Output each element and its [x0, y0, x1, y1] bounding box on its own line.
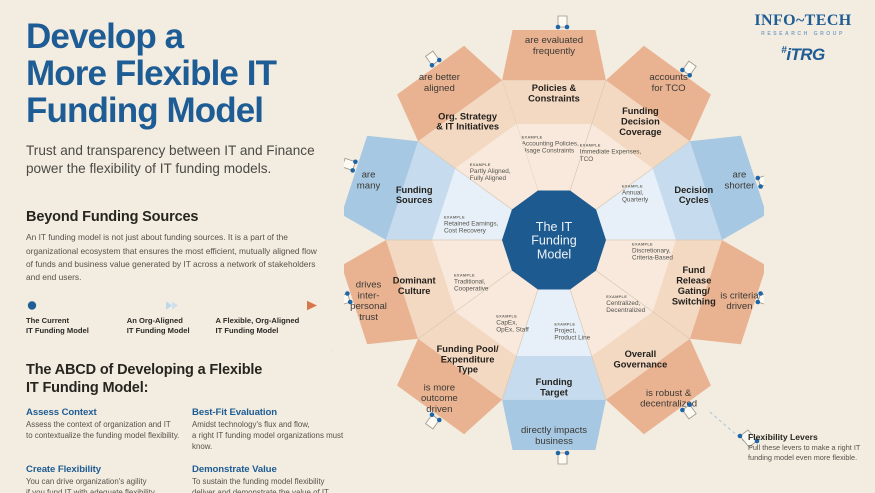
spectrum-label-1-line-1: An Org-Aligned	[127, 316, 216, 327]
example-text-line: Product Line	[554, 335, 590, 342]
flexibility-lever-handle[interactable]	[556, 451, 570, 464]
petal-title: DominantCulture	[393, 276, 436, 296]
abcd-item-body-line-2: if you fund IT with adequate flexibility…	[26, 487, 192, 493]
petal-title: FundingDecisionCoverage	[619, 106, 661, 137]
example-label: EXAMPLE	[632, 241, 653, 246]
petal-lever-text: is moreoutcomedriven	[421, 382, 458, 415]
page-title-line-3: Funding Model	[26, 92, 356, 129]
example-text-line: Immediate Expenses,	[580, 149, 642, 156]
example-label: EXAMPLE	[496, 313, 517, 318]
petal-title-line: Switching	[672, 296, 716, 306]
beyond-body: An IT funding model is not just about fu…	[26, 231, 326, 284]
petal-lever-text-line: is criteria	[720, 290, 759, 301]
center-label: The ITFundingModel	[531, 220, 577, 262]
petal-title-line: Org. Strategy	[438, 111, 498, 121]
petal-lever-text-line: are	[733, 170, 747, 181]
petal-title-line: Constraints	[528, 94, 580, 104]
page-subtitle: Trust and transparency between IT and Fi…	[26, 142, 356, 178]
center-label-line: The IT	[536, 220, 573, 234]
example-label: EXAMPLE	[454, 272, 475, 277]
example-text-line: Discretionary,	[632, 247, 671, 254]
info-tech-logo: INFO~TECH RESEARCH GROUP #iTRG	[747, 12, 859, 65]
petal-lever-text-line: drives	[356, 279, 382, 290]
petal-lever-text-line: are better	[419, 72, 461, 83]
petal-title: Policies &Constraints	[528, 83, 580, 103]
beyond-funding-sources-section: Beyond Funding Sources An IT funding mod…	[26, 209, 356, 337]
spectrum-label-0-line-1: The Current	[26, 316, 127, 327]
petal-lever-text-line: trust	[359, 312, 378, 323]
lever-dot[interactable]	[756, 300, 761, 305]
example-text-line: Quarterly	[622, 197, 649, 204]
petal-title-line: Funding	[396, 185, 433, 195]
petal-lever-text-line: is robust &	[646, 388, 692, 399]
spectrum-label-0: The Current IT Funding Model	[26, 316, 127, 338]
lever-dot[interactable]	[565, 25, 570, 30]
petal-title-line: & IT Initiatives	[436, 122, 499, 132]
petal-title-line: Funding	[622, 106, 659, 116]
flexibility-levers-body-line-1: Pull these levers to make a right IT	[748, 443, 868, 453]
example-text-line: Cost Recovery	[444, 228, 487, 235]
abcd-item-body-line-2: to contextualize the funding model flexi…	[26, 430, 192, 441]
lever-dot[interactable]	[556, 25, 561, 30]
petal-title-line: Target	[540, 388, 568, 398]
petal-lever-text-line: outcome	[421, 393, 458, 404]
lever-dot[interactable]	[756, 176, 761, 181]
example-text-line: Fully Aligned	[470, 175, 507, 182]
petal-title-line: Decision	[621, 116, 660, 126]
petal-title-line: Coverage	[619, 127, 661, 137]
center-label-line: Model	[537, 247, 571, 261]
example-text-line: Usage Constraints	[522, 148, 575, 155]
abcd-item-body: Amidst technology's flux and flow, a rig…	[192, 419, 358, 453]
spectrum-label-1: An Org-Aligned IT Funding Model	[127, 316, 216, 338]
example-text-line: Project,	[554, 328, 576, 335]
petal-lever-text-line: aligned	[424, 83, 455, 94]
petal-title-line: Decision	[674, 185, 713, 195]
abcd-title: The ABCD of Developing a Flexible IT Fun…	[26, 362, 356, 397]
petal-title-line: Sources	[396, 195, 433, 205]
example-text-line: Centralized,	[606, 300, 640, 307]
spectrum-label-2-line-1: A Flexible, Org-Aligned	[216, 316, 318, 327]
example-label: EXAMPLE	[606, 294, 627, 299]
abcd-item-create-flexibility: Create Flexibility You can drive organiz…	[26, 464, 192, 493]
petal-title-line: Culture	[398, 286, 431, 296]
lever-dot[interactable]	[758, 291, 763, 296]
petal-lever-text-line: frequently	[533, 46, 575, 57]
example-text-line: Traditional,	[454, 278, 486, 285]
abcd-grid: Assess Context Assess the context of org…	[26, 407, 356, 493]
page-subtitle-line-1: Trust and transparency between IT and Fi…	[26, 142, 356, 160]
connector-line	[710, 412, 746, 443]
lever-dot[interactable]	[556, 451, 561, 456]
example-label: EXAMPLE	[522, 134, 543, 139]
petal-lever-text: is criteriadriven	[720, 290, 759, 312]
example-text-line: Criteria-Based	[632, 254, 673, 261]
abcd-item-body: Assess the context of organization and I…	[26, 419, 192, 442]
petal-title-line: Funding Pool/	[437, 344, 499, 354]
abcd-item-heading: Create Flexibility	[26, 464, 192, 475]
spectrum-label-0-line-2: IT Funding Model	[26, 326, 127, 337]
lever-dot[interactable]	[437, 418, 442, 423]
petal-title-line: Funding	[536, 377, 573, 387]
petal-title: FundingSources	[396, 185, 433, 205]
spectrum-label-1-line-2: IT Funding Model	[127, 326, 216, 337]
petal-title-line: Release	[676, 276, 711, 286]
left-column: Develop a More Flexible IT Funding Model…	[26, 18, 356, 493]
example-label: EXAMPLE	[622, 184, 643, 189]
flower-svg: Policies &Constraintsare evaluatedfreque…	[344, 8, 764, 486]
lever-dot[interactable]	[687, 73, 692, 78]
flexibility-levers-heading: Flexibility Levers	[748, 432, 868, 442]
lever-dot[interactable]	[687, 402, 692, 407]
petal-title-line: Policies &	[532, 83, 577, 93]
abcd-item-heading: Assess Context	[26, 407, 192, 418]
page-title-line-2: More Flexible IT	[26, 55, 356, 92]
abcd-item-body-line-1: To sustain the funding model flexibility	[192, 476, 358, 487]
example-text-line: Cooperative	[454, 286, 489, 293]
petal-title-line: Governance	[614, 360, 668, 370]
abcd-item-heading: Best-Fit Evaluation	[192, 407, 358, 418]
petal-title-line: Gating/	[678, 286, 710, 296]
abcd-item-demonstrate-value: Demonstrate Value To sustain the funding…	[192, 464, 358, 493]
petal-title-line: Type	[457, 365, 478, 375]
flexibility-levers-body-line-2: funding model even more flexible.	[748, 453, 868, 463]
lever-dot[interactable]	[437, 58, 442, 63]
flexibility-lever-handle[interactable]	[556, 16, 570, 29]
page-title-line-1: Develop a	[26, 18, 356, 55]
abcd-title-line-1: The ABCD of Developing a Flexible	[26, 362, 356, 380]
petal-title: Org. Strategy& IT Initiatives	[436, 111, 499, 131]
lever-dot[interactable]	[680, 68, 685, 73]
example-label: EXAMPLE	[444, 215, 465, 220]
petal-lever-text: accountsfor TCO	[649, 72, 688, 94]
petal-title-line: Fund	[682, 265, 705, 275]
example-text-line: Annual,	[622, 190, 644, 197]
petal-title: DecisionCycles	[674, 185, 713, 205]
petal-lever-text-line: directly impacts	[521, 425, 587, 436]
example-text-line: Retained Earnings,	[444, 221, 499, 228]
petal-lever-text-line: is more	[424, 382, 455, 393]
spectrum-label-2-line-2: IT Funding Model	[216, 326, 318, 337]
example-text-line: Accounting Policies,	[522, 140, 579, 147]
petal-lever-text-line: many	[357, 181, 381, 192]
petal-lever-text-line: are	[362, 170, 376, 181]
petal-title-line: Expenditure	[441, 354, 495, 364]
petal-lever-text-line: inter-	[358, 290, 380, 301]
example-text-line: CapEx,	[496, 319, 517, 326]
logo-tagline: RESEARCH GROUP	[747, 31, 859, 37]
abcd-item-body-line-2: deliver and demonstrate the value of IT.	[192, 487, 358, 493]
beyond-heading: Beyond Funding Sources	[26, 209, 356, 225]
lever-dot[interactable]	[430, 63, 435, 68]
petal-title-line: Cycles	[679, 195, 709, 205]
example-text-line: TCO	[580, 156, 594, 163]
it-funding-model-flower-diagram: Policies &Constraintsare evaluatedfreque…	[344, 8, 764, 486]
connector-lever-dot[interactable]	[738, 434, 743, 439]
petal-lever-text-line: shorter	[725, 181, 756, 192]
abcd-item-best-fit-evaluation: Best-Fit Evaluation Amidst technology's …	[192, 407, 358, 453]
petal-lever-text-line: are evaluated	[525, 35, 583, 46]
spectrum-label-2: A Flexible, Org-Aligned IT Funding Model	[216, 316, 318, 338]
abcd-item-assess-context: Assess Context Assess the context of org…	[26, 407, 192, 453]
lever-dot[interactable]	[758, 184, 763, 189]
spectrum-labels: The Current IT Funding Model An Org-Alig…	[26, 316, 318, 338]
petal-lever-text: are betteraligned	[419, 72, 461, 94]
abcd-item-body: You can drive organization's agility if …	[26, 476, 192, 493]
abcd-item-body-line-2: a right IT funding model organizations m…	[192, 430, 358, 453]
page-title: Develop a More Flexible IT Funding Model	[26, 18, 356, 129]
lever-dot[interactable]	[680, 408, 685, 413]
lever-dot[interactable]	[430, 412, 435, 417]
page-subtitle-line-2: power the flexibility of IT funding mode…	[26, 160, 356, 178]
petal-lever-text: are evaluatedfrequently	[525, 35, 583, 57]
example-text-line: Decentralized	[606, 307, 646, 314]
abcd-item-body-line-1: You can drive organization's agility	[26, 476, 192, 487]
abcd-item-heading: Demonstrate Value	[192, 464, 358, 475]
petal-lever-text-line: driven	[726, 301, 752, 312]
example-text-line: OpEx, Staff	[496, 326, 529, 333]
example-label: EXAMPLE	[554, 322, 575, 327]
example-text-line: Partly Aligned,	[470, 168, 511, 175]
flexibility-levers-body: Pull these levers to make a right IT fun…	[748, 443, 868, 464]
abcd-item-body-line-1: Amidst technology's flux and flow,	[192, 419, 358, 430]
example-label: EXAMPLE	[580, 143, 601, 148]
example-label: EXAMPLE	[470, 162, 491, 167]
petal-title: FundingTarget	[536, 377, 573, 397]
petal-lever-text-line: for TCO	[652, 83, 686, 94]
abcd-item-body-line-1: Assess the context of organization and I…	[26, 419, 192, 430]
abcd-title-line-2: IT Funding Model:	[26, 380, 356, 398]
spectrum-arrow	[26, 299, 318, 312]
itrg-hashtag: #iTRG	[747, 45, 859, 65]
petal-title-line: Dominant	[393, 276, 436, 286]
abcd-item-body: To sustain the funding model flexibility…	[192, 476, 358, 493]
petal-title-line: Overall	[625, 349, 657, 359]
logo-wordmark: INFO~TECH	[747, 12, 859, 30]
itrg-text: iTRG	[786, 45, 824, 64]
center-label-line: Funding	[531, 234, 577, 248]
lever-dot[interactable]	[565, 451, 570, 456]
petal-lever-text-line: accounts	[649, 72, 688, 83]
abcd-section: The ABCD of Developing a Flexible IT Fun…	[26, 362, 356, 493]
flexibility-levers-callout: Flexibility Levers Pull these levers to …	[748, 432, 868, 464]
petal-lever-text-line: business	[535, 436, 573, 447]
funding-model-spectrum: The Current IT Funding Model An Org-Alig…	[26, 299, 318, 338]
